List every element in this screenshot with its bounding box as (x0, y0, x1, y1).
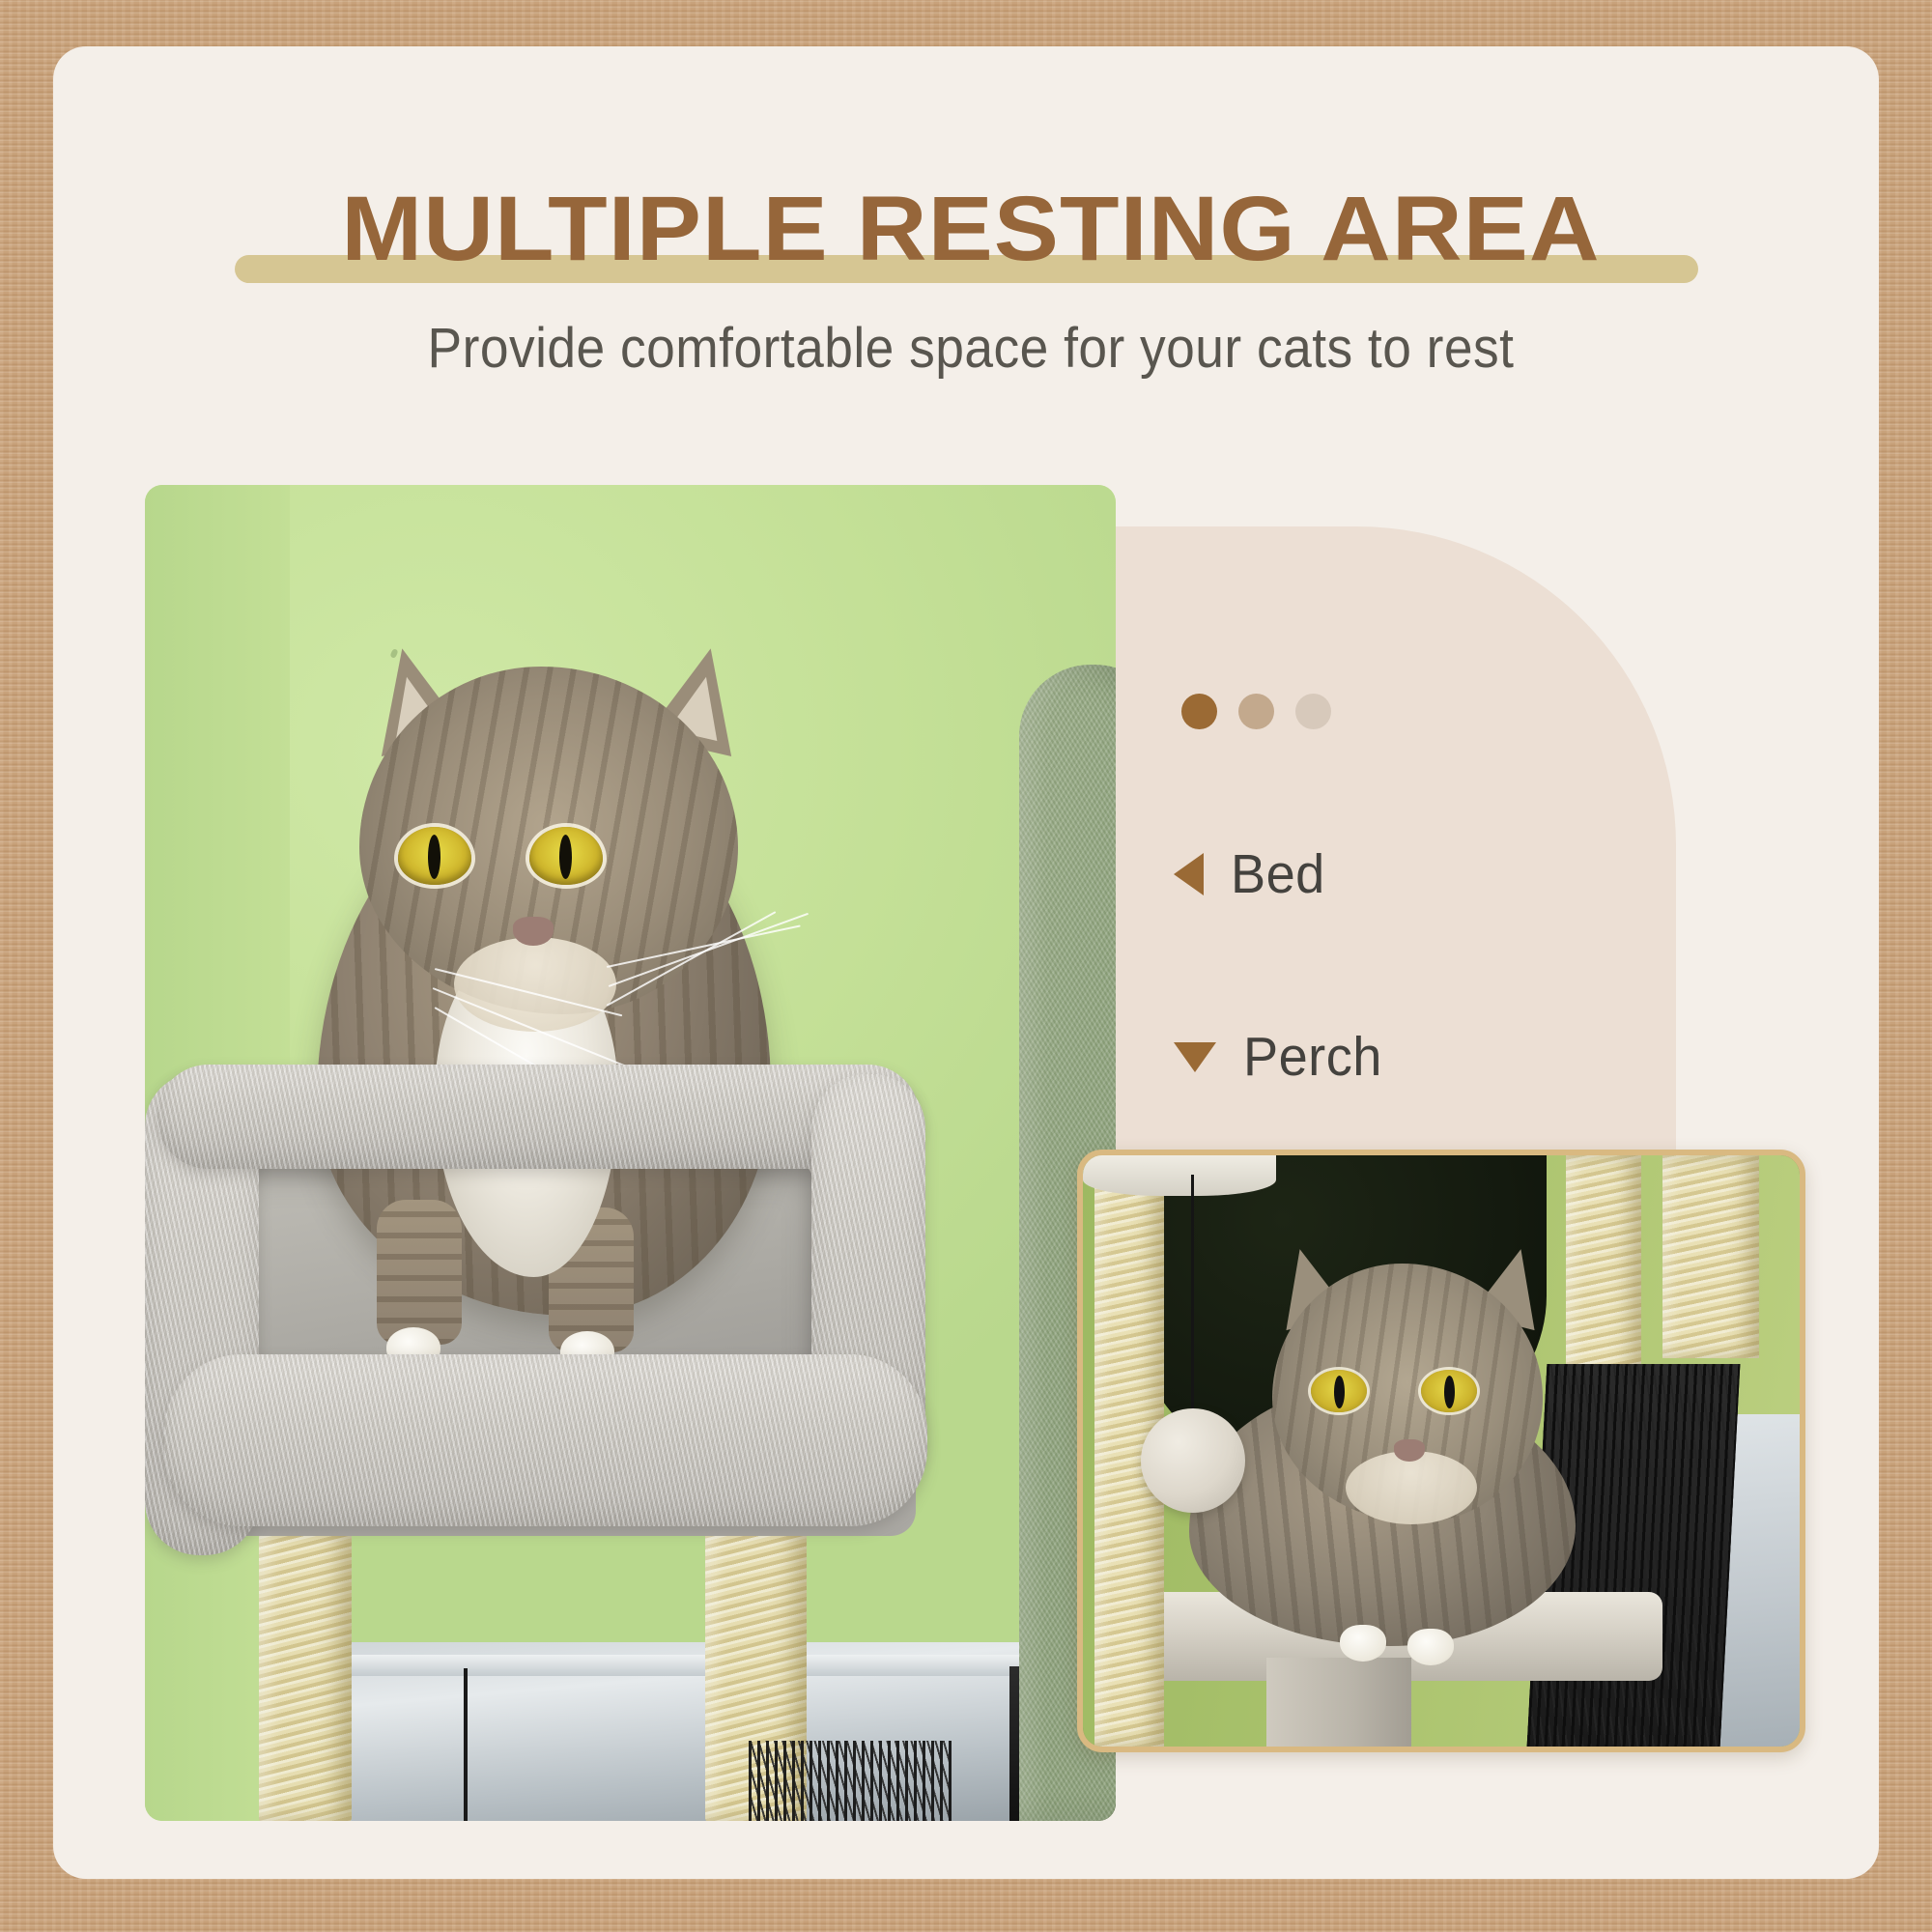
dot-indicator-row (1181, 694, 1331, 729)
inset-toy-string (1191, 1175, 1194, 1412)
page-subtitle: Provide comfortable space for your cats … (215, 315, 1726, 383)
sisal-post (259, 1523, 352, 1821)
callout-bed-label: Bed (1231, 843, 1325, 905)
bed-bolster-top (156, 1065, 920, 1169)
callout-perch: Perch (1174, 1026, 1389, 1088)
inset-sisal-post (1566, 1155, 1641, 1397)
content-card: MULTIPLE RESTING AREA Provide comfortabl… (53, 46, 1879, 1879)
storage-bin-lip (309, 1655, 1024, 1676)
cat-pupil-right (559, 835, 572, 879)
inset-sisal-post (1662, 1155, 1759, 1358)
cat-on-perch-photo (1077, 1150, 1805, 1752)
triangle-down-icon (1174, 1042, 1216, 1072)
page-title: MULTIPLE RESTING AREA (141, 172, 1800, 286)
inset-cat-pupil-right (1444, 1376, 1455, 1408)
dot-indicator-3 (1295, 694, 1331, 729)
inset-cat-paw-left (1340, 1625, 1386, 1662)
dot-indicator-1 (1181, 694, 1217, 729)
cat-pupil-left (428, 835, 440, 879)
inset-plush-pole (1266, 1658, 1411, 1747)
inset-cat-nose (1394, 1439, 1425, 1462)
dot-indicator-2 (1238, 694, 1274, 729)
triangle-left-icon (1174, 853, 1204, 895)
inset-top-plush (1083, 1155, 1276, 1196)
cat-muzzle (454, 937, 616, 1032)
headline-group: MULTIPLE RESTING AREA (188, 172, 1753, 288)
inset-cat-pupil-left (1334, 1376, 1345, 1408)
bed-bolster-front (164, 1354, 927, 1526)
bristle-brush (749, 1741, 952, 1821)
cat-in-plush-bed-photo (145, 485, 1116, 1821)
callout-bed: Bed (1174, 843, 1330, 905)
inset-pompom-toy (1141, 1408, 1245, 1513)
cat-front-leg-left (377, 1200, 462, 1345)
poster-canvas: MULTIPLE RESTING AREA Provide comfortabl… (0, 0, 1932, 1932)
cat-nose (513, 917, 554, 946)
callout-perch-label: Perch (1243, 1026, 1382, 1088)
inset-cat-muzzle (1346, 1451, 1477, 1524)
toy-string (464, 1668, 468, 1821)
inset-cat-paw-right (1407, 1629, 1454, 1665)
